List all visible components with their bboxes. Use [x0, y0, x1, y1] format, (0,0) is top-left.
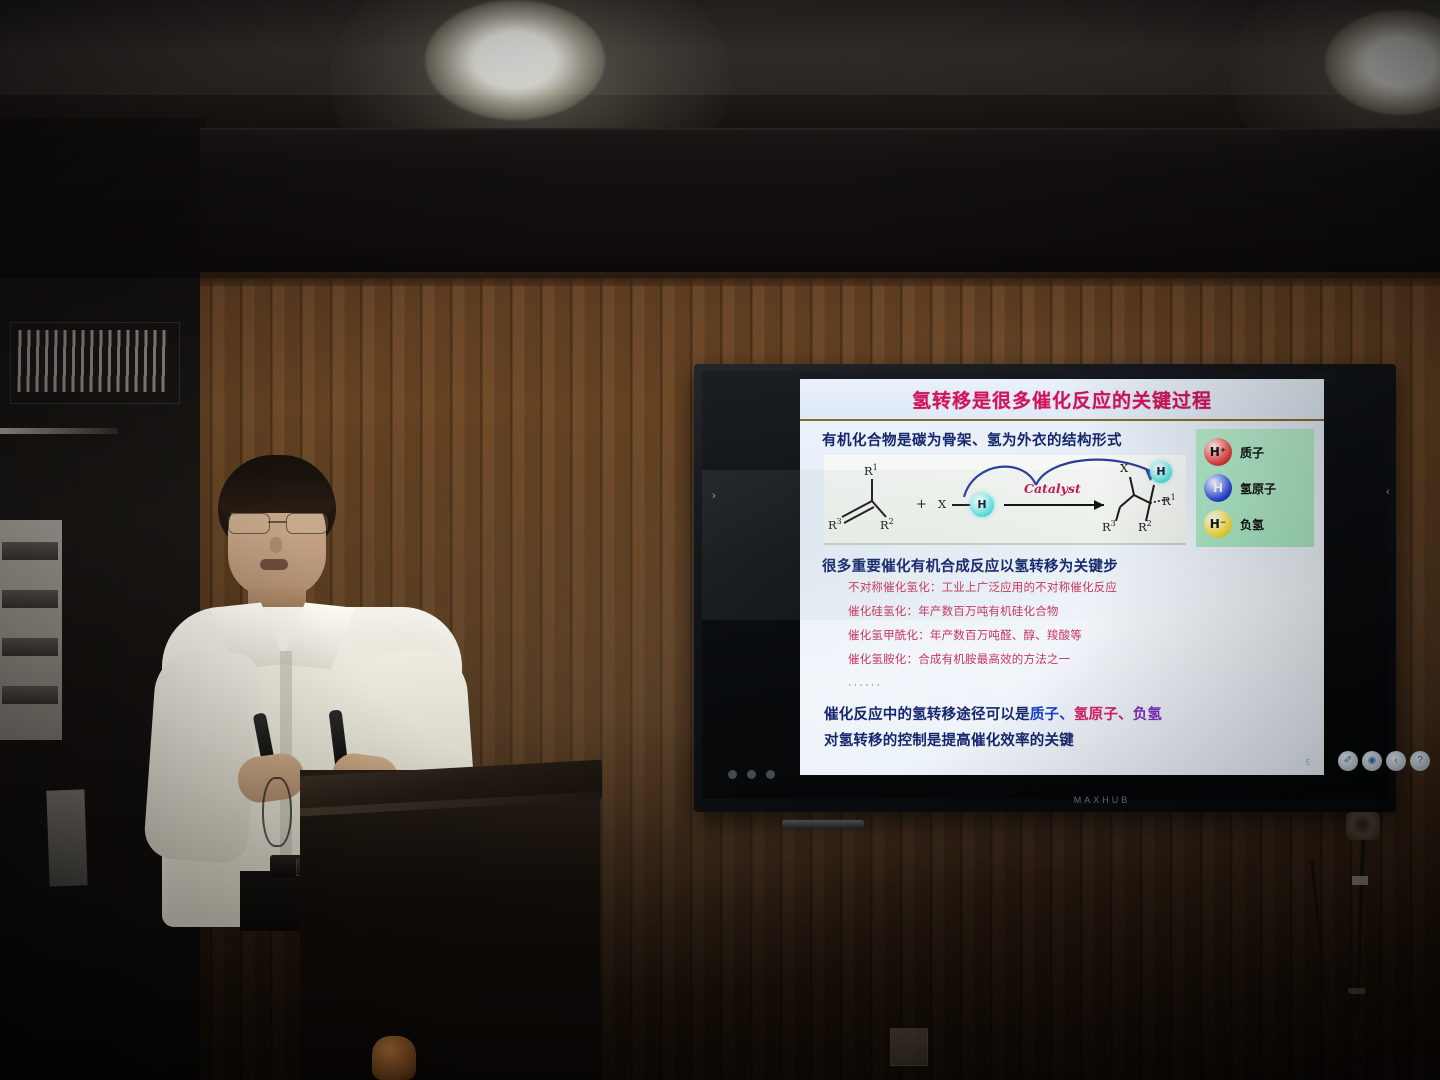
wall-mount-bracket [1346, 812, 1380, 840]
chevron-left-icon[interactable]: ‹ [1386, 486, 1398, 500]
legend-row-hydrogen-atom: H 氢原子 [1204, 471, 1308, 505]
plus-sign: + [916, 497, 927, 512]
chevron-right-icon[interactable]: › [712, 490, 724, 504]
conclusion-line-1: 催化反应中的氢转移途径可以是质子、氢原子、负氢 [824, 703, 1162, 724]
indicator-dot [747, 770, 756, 779]
reactant-r2-label: R2 [880, 517, 894, 532]
panel-slot [2, 638, 58, 656]
hydrogen-ball-reactant-icon: H [970, 493, 994, 517]
glasses-bridge [268, 521, 286, 523]
conclusion-proton: 质子、 [1030, 707, 1074, 723]
wall-outlet[interactable] [890, 1028, 928, 1066]
product-r2-label: R2 [1138, 519, 1152, 534]
slide-subtitle: 有机化合物是碳为骨架、氢为外衣的结构形式 [822, 429, 1182, 450]
legend-label-proton: 质子 [1240, 444, 1264, 461]
catalyst-label: Catalyst [1024, 481, 1081, 496]
legend-row-hydride: H⁻ 负氢 [1204, 507, 1308, 541]
body-item-4: 催化氢胺化：合成有机胺最高效的方法之一 [848, 651, 1070, 667]
slide-title-bar: 氢转移是很多催化反应的关键过程 [800, 379, 1324, 421]
conclusion-hydrogen-atom: 氢原子、 [1074, 707, 1133, 723]
panel-slot [2, 542, 58, 560]
highlighter-icon[interactable]: ◉ [1362, 751, 1382, 771]
presenter-mouth [260, 559, 288, 570]
product-r1-label: R1 [1162, 493, 1176, 508]
legend-label-hydrogen-atom: 氢原子 [1240, 480, 1276, 497]
reaction-svg [824, 455, 1186, 543]
display-brand-logo: MAXHUB [1047, 795, 1157, 809]
legend-label-hydride: 负氢 [1240, 516, 1264, 533]
podium [300, 770, 600, 1080]
product-r3-label: R3 [1102, 519, 1116, 534]
upper-left-dark-panel [0, 118, 205, 303]
lecture-hall-photo: 氢转移是很多催化反应的关键过程 有机化合物是碳为骨架、氢为外衣的结构形式 [0, 0, 1440, 1080]
indicator-dot [728, 770, 737, 779]
glasses-lens-right [286, 513, 328, 534]
podium-side-rail [46, 789, 87, 886]
reactant-x-label: X [938, 497, 946, 511]
ellipsis-marker: ······ [848, 679, 882, 691]
glasses-lens-left [228, 513, 270, 534]
product-x-label: X [1120, 461, 1128, 475]
presenter-hair-fringe [220, 477, 334, 513]
hydride-ball-icon: H⁻ [1204, 510, 1232, 538]
onscreen-toolbar[interactable]: ✐ ◉ ‹ ? [1338, 748, 1434, 774]
hydrogen-ball-product-icon: H [1150, 461, 1172, 483]
panel-slot [2, 686, 58, 704]
screen-status-indicators [728, 768, 814, 780]
body-item-2: 催化硅氢化：年产数百万吨有机硅化合物 [848, 603, 1059, 619]
cable-tie [1348, 988, 1366, 994]
presenter-arm-left [143, 648, 261, 865]
presenter-nose [270, 537, 282, 553]
body-item-1: 不对称催化氢化：工业上广泛应用的不对称催化反应 [848, 579, 1117, 595]
conclusion-line-2: 对氢转移的控制是提高催化效率的关键 [824, 729, 1074, 750]
body-item-3: 催化氢甲酰化：年产数百万吨醛、醇、羧酸等 [848, 627, 1082, 643]
podium-object [372, 1036, 416, 1080]
help-icon[interactable]: ? [1410, 751, 1430, 771]
glasses-icon [226, 513, 330, 533]
air-vent-grille [17, 330, 168, 392]
cable-label-tag [1352, 876, 1368, 885]
hydrogen-atom-ball-icon: H [1204, 474, 1232, 502]
reactant-r3-label: R3 [828, 517, 842, 532]
door-top-edge [0, 428, 118, 434]
upper-wall-beam [200, 128, 1440, 280]
wall-equipment-panel[interactable] [0, 520, 62, 740]
display-stand-foot [782, 820, 864, 829]
ceiling-downlight-left [425, 0, 605, 120]
pen-icon[interactable]: ✐ [1338, 751, 1358, 771]
body-heading: 很多重要催化有机合成反应以氢转移为关键步 [822, 555, 1118, 576]
back-icon[interactable]: ‹ [1386, 751, 1406, 771]
slide-title: 氢转移是很多催化反应的关键过程 [912, 386, 1212, 413]
indicator-dot [766, 770, 775, 779]
wall-top-trim [200, 272, 1440, 286]
panel-slot [2, 590, 58, 608]
legend-row-proton: H⁺ 质子 [1204, 435, 1308, 469]
conclusion-text-a: 催化反应中的氢转移途径可以是 [824, 707, 1030, 723]
reactant-r1-label: R1 [864, 463, 878, 478]
presentation-slide: 氢转移是很多催化反应的关键过程 有机化合物是碳为骨架、氢为外衣的结构形式 [800, 379, 1324, 775]
slide-page-number: 5 [1306, 758, 1310, 767]
lanyard [262, 777, 292, 847]
proton-ball-icon: H⁺ [1204, 438, 1232, 466]
conclusion-hydride: 负氢 [1133, 707, 1162, 723]
hydrogen-species-legend: H⁺ 质子 H 氢原子 H⁻ 负氢 [1196, 429, 1314, 547]
reaction-scheme: R3 R1 R2 + X H Catalyst X H R3 R2 R1 [824, 455, 1186, 545]
